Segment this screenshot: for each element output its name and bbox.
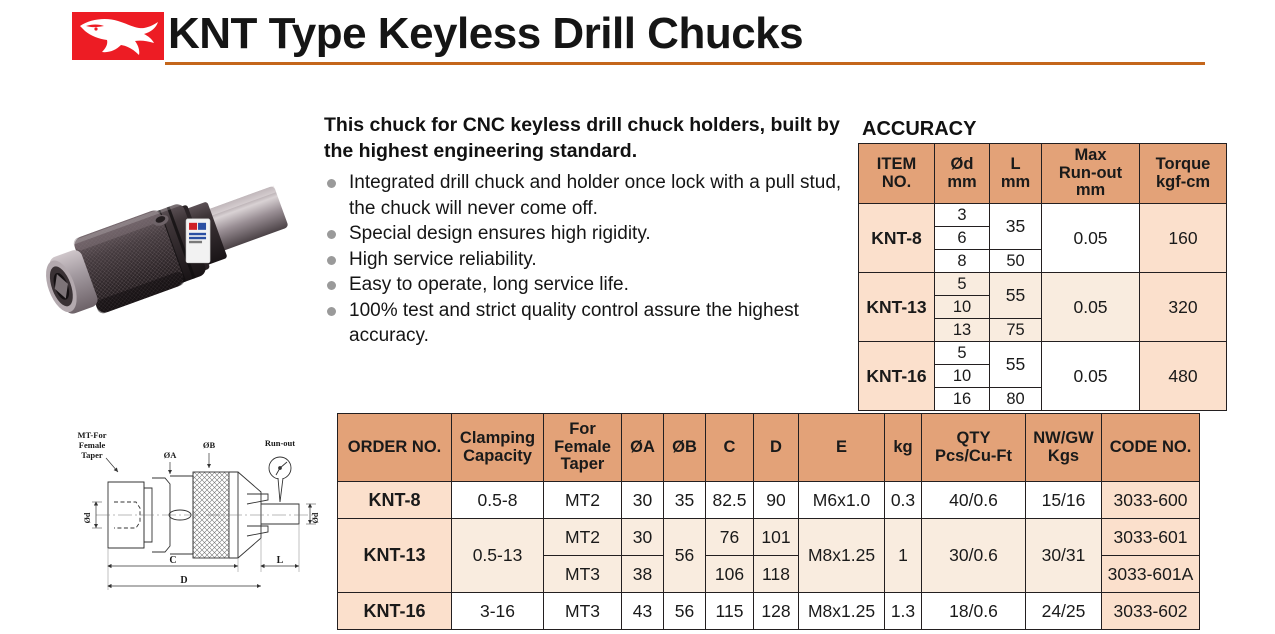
product-photo	[28, 150, 324, 386]
table-row: KNT-13 0.5-13 MT2 30 56 76 101 M8x1.25 1…	[338, 519, 1200, 556]
cell-max-runout: 0.05	[1042, 204, 1140, 273]
cell-diameter-d: 5	[935, 342, 990, 365]
table-row: KNT-8 3 35 0.05 160	[859, 204, 1227, 227]
col-header-clamping-capacity: Clamping Capacity	[452, 414, 544, 482]
cell-kg: 1	[885, 519, 922, 593]
spec-table-wrap: ORDER NO. Clamping Capacity For Female T…	[337, 413, 1200, 630]
cell-diameter-d: 10	[935, 365, 990, 388]
feature-text: 100% test and strict quality control ass…	[349, 300, 799, 347]
cell-item-no: KNT-13	[859, 273, 935, 342]
col-header-diameter-d: Ød mm	[935, 144, 990, 204]
cell-code-no: 3033-601	[1102, 519, 1200, 556]
cell-nw-gw: 15/16	[1026, 482, 1102, 519]
cell-order-no: KNT-16	[338, 593, 452, 630]
title-underline-rule	[165, 62, 1205, 65]
list-item: Special design ensures high rigidity.	[324, 221, 854, 247]
cell-diameter-a: 43	[622, 593, 664, 630]
cell-torque: 320	[1140, 273, 1227, 342]
list-item: 100% test and strict quality control ass…	[324, 298, 854, 349]
label-dim-c: C	[169, 555, 176, 566]
cell-diameter-a: 30	[622, 519, 664, 556]
cell-torque: 480	[1140, 342, 1227, 411]
label-taper-line2: Female	[79, 440, 106, 450]
cell-clamping-capacity: 0.5-8	[452, 482, 544, 519]
catalog-page: KNT Type Keyless Drill Chucks	[0, 0, 1275, 634]
cell-nw-gw: 30/31	[1026, 519, 1102, 593]
cell-kg: 0.3	[885, 482, 922, 519]
cell-diameter-b: 56	[664, 593, 706, 630]
page-header: KNT Type Keyless Drill Chucks	[0, 0, 1275, 78]
cell-kg: 1.3	[885, 593, 922, 630]
col-header-diameter-b: ØB	[664, 414, 706, 482]
table-row: KNT-13 5 55 0.05 320	[859, 273, 1227, 296]
spec-header-row: ORDER NO. Clamping Capacity For Female T…	[338, 414, 1200, 482]
label-dim-d: D	[180, 575, 187, 586]
feature-text: High service reliability.	[349, 249, 537, 270]
bullet-icon	[327, 281, 336, 290]
accuracy-header-row: ITEM NO. Ød mm L mm Max Run-out mm	[859, 144, 1227, 204]
description-block: This chuck for CNC keyless drill chuck h…	[324, 112, 854, 349]
cell-code-no: 3033-602	[1102, 593, 1200, 630]
accuracy-table: ITEM NO. Ød mm L mm Max Run-out mm	[858, 143, 1227, 411]
cell-diameter-d: 6	[935, 227, 990, 250]
col-header-length: L mm	[990, 144, 1042, 204]
bullet-icon	[327, 179, 336, 188]
cell-c: 76	[706, 519, 754, 556]
cell-diameter-b: 35	[664, 482, 706, 519]
cell-female-taper: MT3	[544, 593, 622, 630]
feature-text: Easy to operate, long service life.	[349, 274, 629, 295]
cell-female-taper: MT2	[544, 519, 622, 556]
cell-diameter-d: 13	[935, 319, 990, 342]
cell-max-runout: 0.05	[1042, 342, 1140, 411]
cell-c: 106	[706, 556, 754, 593]
col-header-item-no: ITEM NO.	[859, 144, 935, 204]
cell-qty: 30/0.6	[922, 519, 1026, 593]
label-diameter-d-left: Ød	[83, 512, 92, 523]
label-dim-l: L	[277, 555, 284, 566]
cell-qty: 18/0.6	[922, 593, 1026, 630]
cell-max-runout: 0.05	[1042, 273, 1140, 342]
cell-item-no: KNT-16	[859, 342, 935, 411]
cell-length: 55	[990, 342, 1042, 388]
cell-diameter-d: 16	[935, 388, 990, 411]
table-row: KNT-16 3-16 MT3 43 56 115 128 M8x1.25 1.…	[338, 593, 1200, 630]
col-header-torque: Torque kgf-cm	[1140, 144, 1227, 204]
col-header-d: D	[754, 414, 799, 482]
cell-length: 35	[990, 204, 1042, 250]
cell-length: 75	[990, 319, 1042, 342]
cell-clamping-capacity: 3-16	[452, 593, 544, 630]
cell-length: 50	[990, 250, 1042, 273]
cell-length: 55	[990, 273, 1042, 319]
cell-d: 128	[754, 593, 799, 630]
table-row: KNT-16 5 55 0.05 480	[859, 342, 1227, 365]
eagle-head-logo-icon	[72, 12, 164, 60]
list-item: High service reliability.	[324, 247, 854, 273]
feature-text: Special design ensures high rigidity.	[349, 223, 651, 244]
cell-e: M6x1.0	[799, 482, 885, 519]
cell-diameter-a: 38	[622, 556, 664, 593]
cell-order-no: KNT-8	[338, 482, 452, 519]
bullet-icon	[327, 256, 336, 265]
cell-order-no: KNT-13	[338, 519, 452, 593]
col-header-max-runout: Max Run-out mm	[1042, 144, 1140, 204]
label-diameter-d-right: Ød	[311, 512, 320, 523]
technical-drawing: MT-For Female Taper ØA ØB Run-out C L D …	[52, 420, 337, 610]
label-runout: Run-out	[265, 438, 295, 448]
cell-length: 80	[990, 388, 1042, 411]
cell-diameter-d: 3	[935, 204, 990, 227]
cell-nw-gw: 24/25	[1026, 593, 1102, 630]
cell-d: 101	[754, 519, 799, 556]
cell-d: 118	[754, 556, 799, 593]
col-header-order-no: ORDER NO.	[338, 414, 452, 482]
accuracy-table-wrap: ITEM NO. Ød mm L mm Max Run-out mm	[858, 143, 1227, 411]
cell-qty: 40/0.6	[922, 482, 1026, 519]
cell-diameter-d: 10	[935, 296, 990, 319]
list-item: Easy to operate, long service life.	[324, 272, 854, 298]
col-header-nw-gw: NW/GW Kgs	[1026, 414, 1102, 482]
col-header-kg: kg	[885, 414, 922, 482]
label-diameter-b: ØB	[203, 440, 216, 450]
accuracy-table-label: ACCURACY	[862, 118, 976, 141]
list-item: Integrated drill chuck and holder once l…	[324, 170, 854, 221]
page-title: KNT Type Keyless Drill Chucks	[168, 4, 803, 64]
cell-female-taper: MT3	[544, 556, 622, 593]
cell-female-taper: MT2	[544, 482, 622, 519]
cell-c: 82.5	[706, 482, 754, 519]
feature-text: Integrated drill chuck and holder once l…	[349, 172, 841, 219]
label-taper-line1: MT-For	[78, 430, 107, 440]
col-header-female-taper: For Female Taper	[544, 414, 622, 482]
cell-code-no: 3033-601A	[1102, 556, 1200, 593]
label-diameter-a: ØA	[164, 450, 178, 460]
cell-diameter-d: 8	[935, 250, 990, 273]
cell-e: M8x1.25	[799, 593, 885, 630]
cell-diameter-b: 56	[664, 519, 706, 593]
cell-diameter-a: 30	[622, 482, 664, 519]
feature-list: Integrated drill chuck and holder once l…	[324, 170, 854, 349]
col-header-diameter-a: ØA	[622, 414, 664, 482]
bullet-icon	[327, 230, 336, 239]
bullet-icon	[327, 307, 336, 316]
col-header-code-no: CODE NO.	[1102, 414, 1200, 482]
label-taper-line3: Taper	[81, 450, 103, 460]
col-header-e: E	[799, 414, 885, 482]
cell-torque: 160	[1140, 204, 1227, 273]
cell-code-no: 3033-600	[1102, 482, 1200, 519]
cell-e: M8x1.25	[799, 519, 885, 593]
cell-item-no: KNT-8	[859, 204, 935, 273]
table-row: KNT-8 0.5-8 MT2 30 35 82.5 90 M6x1.0 0.3…	[338, 482, 1200, 519]
cell-diameter-d: 5	[935, 273, 990, 296]
col-header-qty: QTY Pcs/Cu-Ft	[922, 414, 1026, 482]
cell-d: 90	[754, 482, 799, 519]
spec-table: ORDER NO. Clamping Capacity For Female T…	[337, 413, 1200, 630]
cell-clamping-capacity: 0.5-13	[452, 519, 544, 593]
description-heading: This chuck for CNC keyless drill chuck h…	[324, 112, 854, 164]
cell-c: 115	[706, 593, 754, 630]
col-header-c: C	[706, 414, 754, 482]
